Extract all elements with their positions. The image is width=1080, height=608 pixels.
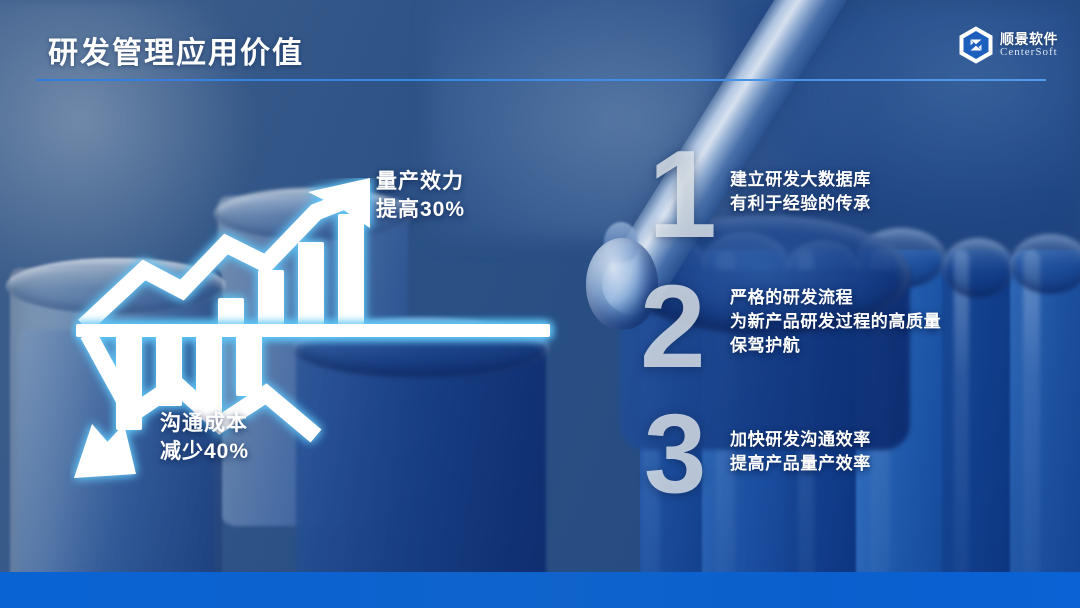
- point-number-1: 1: [648, 133, 717, 257]
- point-text-2: 严格的研发流程 为新产品研发过程的高质量 保驾护航: [730, 286, 941, 358]
- page-title: 研发管理应用价值: [48, 28, 304, 72]
- dual-arrow-chart-graphic: [70, 178, 590, 490]
- point-3-line1: 加快研发沟通效率: [730, 428, 871, 452]
- point-2-line3: 保驾护航: [730, 334, 941, 358]
- point-1-line1: 建立研发大数据库: [730, 168, 871, 192]
- metric-down-line1: 沟通成本: [160, 410, 249, 438]
- hexagon-s-logo-icon: [959, 26, 993, 64]
- point-2-line1: 严格的研发流程: [730, 286, 941, 310]
- slide: 研发管理应用价值 顺景软件 CenterSoft: [0, 0, 1080, 608]
- brand-name-en: CenterSoft: [1000, 47, 1058, 59]
- brand-logo: 顺景软件 CenterSoft: [959, 26, 1058, 64]
- point-2-line2: 为新产品研发过程的高质量: [730, 310, 941, 334]
- brand-name-cn: 顺景软件: [1000, 32, 1058, 47]
- rising-arrow-chart-icon: [80, 178, 550, 337]
- brand-logo-text: 顺景软件 CenterSoft: [1000, 32, 1058, 58]
- point-3-line2: 提高产品量产效率: [730, 452, 871, 476]
- metric-down-line2: 减少40%: [160, 438, 249, 466]
- slide-header: 研发管理应用价值 顺景软件 CenterSoft: [0, 0, 1080, 96]
- point-text-3: 加快研发沟通效率 提高产品量产效率: [730, 428, 871, 476]
- falling-arrow-chart-icon: [74, 324, 550, 478]
- metric-callout-down: 沟通成本 减少40%: [160, 410, 249, 465]
- point-text-1: 建立研发大数据库 有利于经验的传承: [730, 168, 871, 216]
- title-divider: [36, 79, 1046, 81]
- metric-up-line2: 提高30%: [376, 196, 465, 224]
- point-1-line2: 有利于经验的传承: [730, 192, 871, 216]
- metric-up-line1: 量产效力: [376, 168, 465, 196]
- metric-callout-up: 量产效力 提高30%: [376, 168, 465, 223]
- point-number-3: 3: [644, 398, 706, 510]
- point-number-2: 2: [640, 268, 706, 386]
- footer-bar: [0, 572, 1080, 608]
